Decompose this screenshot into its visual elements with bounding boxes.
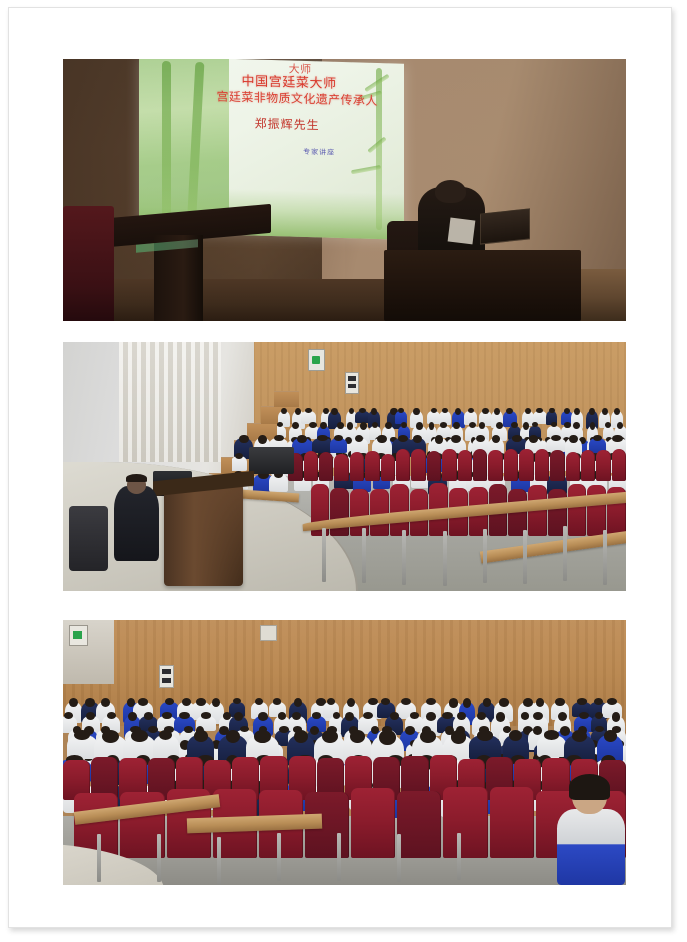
audience-head [337,422,344,428]
p3-foreground-hair [569,774,610,801]
p2-seat-row-back [288,452,626,482]
audience-head [379,730,395,744]
auditorium-seat [488,450,502,481]
auditorium-seat [319,452,333,482]
audience-head [347,422,354,430]
audience-head [196,698,206,706]
audience-head [297,435,307,443]
exit-sign-icon [308,349,325,371]
audience-head [223,712,231,719]
auditorium-seat [351,788,395,859]
auditorium-seat [587,485,606,536]
audience-head [449,698,459,707]
audience-head [564,422,570,428]
audience-head [401,422,407,428]
audience-head [390,712,399,720]
auditorium-seat [458,450,472,482]
audience-closeup-photo [63,620,626,885]
p1-podium [108,211,271,321]
audience-head [451,730,466,743]
audience-head [511,422,517,428]
auditorium-seat [504,449,518,481]
audience-head [85,698,95,707]
desk-support [402,530,406,585]
audience-head [194,730,208,742]
audience-head [426,712,436,720]
p2-curtain [119,342,220,462]
slide-subtitle: 专家讲座 [240,147,398,160]
audience-head [612,435,623,442]
audience-head [551,435,561,441]
audience-head [317,435,327,441]
audience-head [360,422,367,430]
auditorium-seat [427,451,441,481]
auditorium-seat [568,484,587,536]
audience-head [429,422,435,429]
audience-head [589,408,595,415]
audience-head [350,730,364,743]
desk-support [443,531,447,586]
p2-podium [164,486,243,586]
audience-head [612,712,621,721]
audience-head [590,422,596,429]
slide-text-block: 大师 中国宫廷菜大师 宫廷菜非物质文化遗产传承人 郑振辉先生 专家讲座 [192,60,398,160]
auditorium-seat [411,449,425,482]
p3-foreground-student [553,774,626,885]
audience-head [496,712,506,721]
audience-head [607,698,617,705]
audience-head [525,408,531,414]
exit-sign-icon [69,625,88,646]
audience-head [420,730,436,743]
audience-head [564,408,570,414]
audience-head [309,422,316,428]
auditorium-seat [304,451,318,481]
slide-speaker-name: 郑振辉先生 [176,114,398,135]
audience-head [320,422,326,429]
audience-head [274,435,284,442]
p1-speaker-desk [384,250,581,321]
desk-support [483,529,487,584]
auditorium-seat [365,451,379,482]
audience-head [144,712,154,719]
p1-speaker-head [435,180,467,204]
auditorium-seat [442,449,456,482]
audience-head [440,422,447,427]
auditorium-seat [490,787,534,859]
audience-head [281,408,287,415]
p2-speaker-body [114,486,159,561]
audience-head [529,435,538,443]
auditorium-seat [334,454,348,482]
audience-head [413,408,419,415]
p1-stage-chair [63,206,114,321]
audience-head [602,408,608,415]
audience-head [64,712,73,719]
audience-head [521,712,529,719]
auditorium-wide-audience-photo [63,342,626,591]
p3-foreground-body [557,809,624,885]
audience-head [413,435,422,443]
audience-head [482,408,489,414]
auditorium-seat [612,449,626,482]
audience-head [512,435,523,442]
audience-head [483,698,492,706]
audience-head [258,712,268,720]
audience-head [577,698,587,704]
audience-head [496,422,503,429]
auditorium-seat [473,449,487,482]
desk-support [322,528,326,583]
audience-head [555,698,564,706]
p2-av-cabinet [249,447,294,474]
desk-support [337,833,341,881]
audience-head [477,712,486,720]
audience-head [182,698,191,706]
audience-head [323,408,329,414]
audience-head [86,712,95,719]
audience-head [614,408,620,415]
audience-head [398,408,404,413]
audience-head [273,698,282,704]
audience-head [499,698,508,706]
audience-head [327,698,335,704]
audience-head [457,712,465,720]
audience-head [162,712,172,718]
p1-laptop [480,208,530,244]
auditorium-seat [397,791,441,858]
auditorium-seat [330,488,349,537]
auditorium-seat [581,450,595,482]
auditorium-seat [396,449,410,482]
audience-head [573,422,580,429]
audience-head [331,408,338,416]
p1-speaker-paper [447,217,475,243]
auditorium-seat [350,489,369,536]
auditorium-seat [390,484,409,536]
auditorium-seat [596,450,610,482]
audience-head [101,698,110,707]
auditorium-seat [550,450,564,481]
audience-head [492,435,500,443]
desk-support [362,528,366,583]
audience-head [416,422,423,430]
desk-support [217,837,221,885]
audience-head [254,730,271,742]
desk-support [397,834,401,882]
desk-support [157,834,161,882]
audience-head [131,730,147,742]
desk-support [603,530,607,585]
audience-head [69,698,78,707]
audience-head [477,730,493,741]
desk-support [457,833,461,881]
wall-panel-icon [345,372,360,394]
audience-head [359,408,366,413]
desk-support [523,530,527,585]
audience-head [453,422,459,429]
auditorium-seat [443,787,487,859]
audience-head [334,435,343,441]
desk-support [97,834,101,882]
audience-head [549,408,555,414]
audience-head [235,453,243,459]
auditorium-seat [350,452,364,481]
audience-head [371,408,377,415]
audience-head [523,422,529,430]
audience-head [410,712,419,718]
audience-head [574,408,580,415]
audience-head [372,422,378,428]
lecture-hall-projection-photo: 大师 中国宫廷菜大师 宫廷菜非物质文化遗产传承人 郑振辉先生 专家讲座 [63,59,626,321]
auditorium-seat [535,449,549,482]
audience-head [128,712,136,721]
audience-head [278,712,286,719]
audience-head [463,698,471,707]
audience-head [569,435,578,443]
auditorium-seat [519,449,533,481]
audience-head [435,435,444,444]
audience-head [292,422,299,429]
document-page: 大师 中国宫廷菜大师 宫廷菜非物质文化遗产传承人 郑振辉先生 专家讲座 [8,7,672,928]
audience-head [368,698,377,705]
audience-head [201,712,211,718]
audience-head [604,730,617,742]
p2-speaker-hair [126,474,147,482]
audience-head [239,435,249,444]
audience-head [377,435,387,443]
auditorium-seat [381,454,395,481]
wall-panel-icon [159,665,175,688]
photo-stack: 大师 中国宫廷菜大师 宫廷菜非物质文化遗产传承人 郑振辉先生 专家讲座 [9,8,671,927]
audience-head [107,712,116,719]
audience-head [494,408,500,415]
p2-stage-chair [69,506,108,571]
desk-support [277,833,281,881]
audience-head [544,730,559,739]
room-sign-icon [260,625,277,640]
auditorium-seat [566,452,580,481]
desk-support [563,526,567,581]
audience-head [593,435,602,441]
audience-head [258,435,266,444]
audience-head [138,698,148,706]
